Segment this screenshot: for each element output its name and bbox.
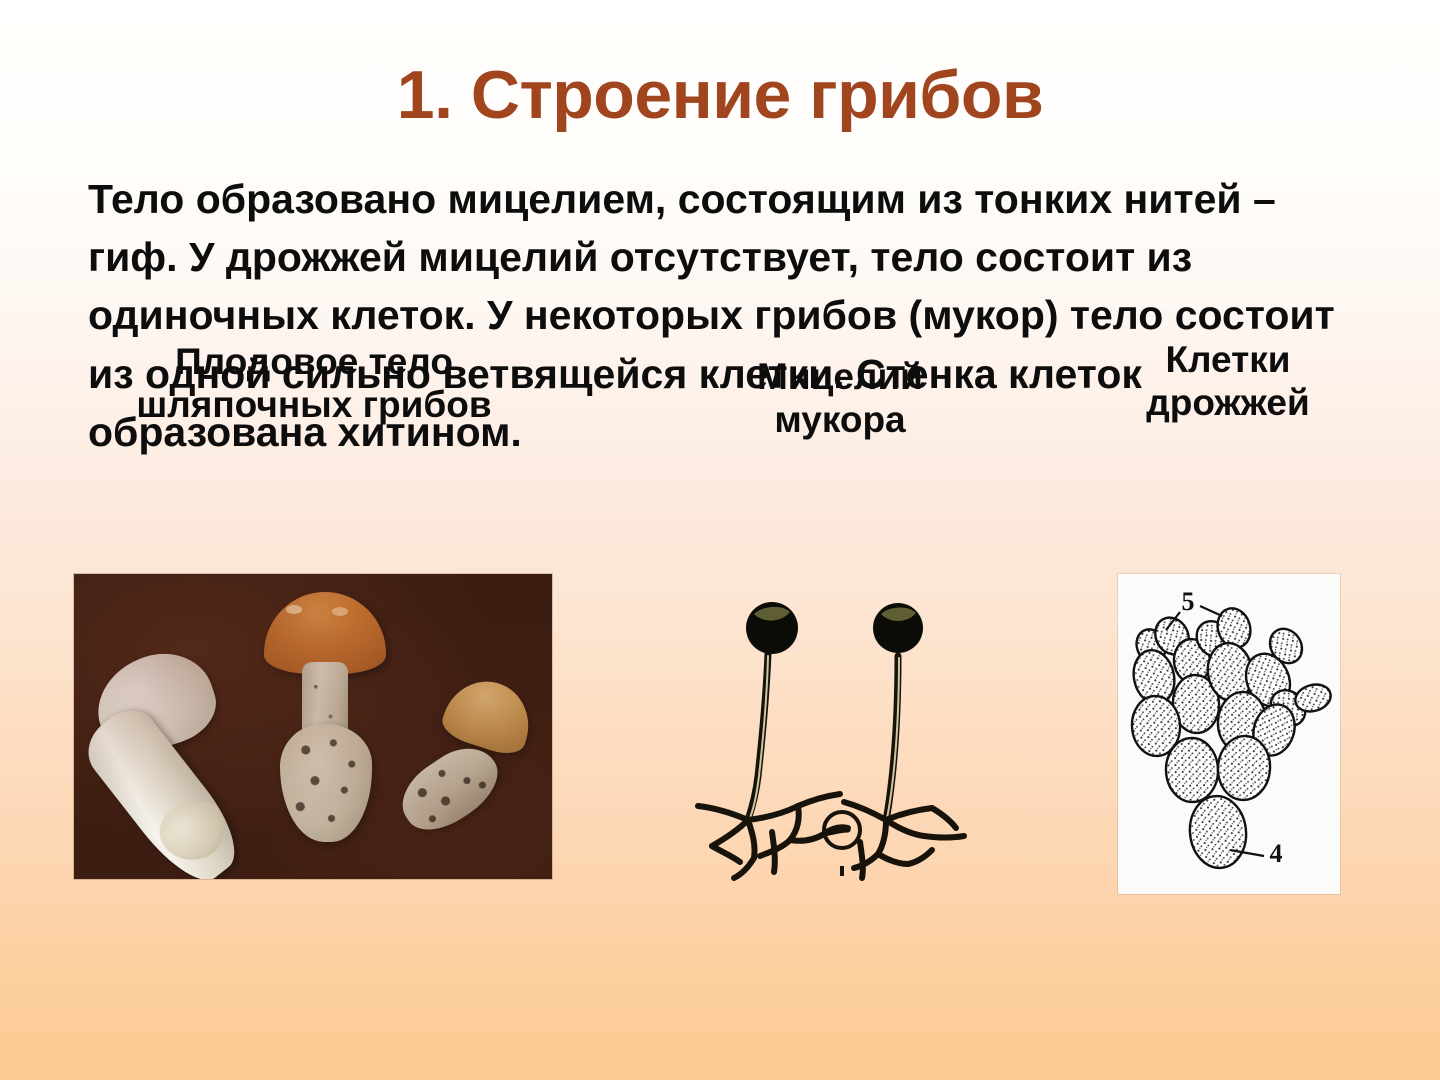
- yeast-leader-5-right: [1200, 606, 1222, 616]
- figure-yeast-cells: 5 4: [1118, 574, 1340, 894]
- yeast-label-5: 5: [1182, 587, 1195, 616]
- page-title: 1. Строение грибов: [0, 56, 1440, 134]
- figure-fruiting-body: [74, 574, 552, 879]
- mucor-mycelium-right: [844, 802, 964, 878]
- caption-fruiting-body: Плодовое тело шляпочных грибов: [34, 340, 594, 427]
- mushroom-right-cap: [438, 670, 540, 759]
- caption-mucor-mycelium: Мицелий мукора: [672, 355, 1008, 442]
- yeast-cell-cluster: [1129, 604, 1334, 871]
- mucor-drawing: [690, 580, 990, 900]
- yeast-frame: 5 4: [1118, 574, 1340, 894]
- yeast-mother-cell: [1186, 793, 1249, 870]
- mushroom-centre-base: [280, 724, 372, 842]
- yeast-drawing: 5 4: [1118, 574, 1340, 894]
- mushroom-photo: [74, 574, 552, 879]
- caption-yeast-cells: Клетки дрожжей: [1078, 338, 1378, 425]
- yeast-cell: [1165, 737, 1219, 803]
- mucor-stalk-left: [748, 654, 768, 820]
- yeast-label-4: 4: [1270, 839, 1283, 868]
- slide: 1. Строение грибов Тело образовано мицел…: [0, 0, 1440, 1080]
- figure-mucor-mycelium: [690, 580, 990, 905]
